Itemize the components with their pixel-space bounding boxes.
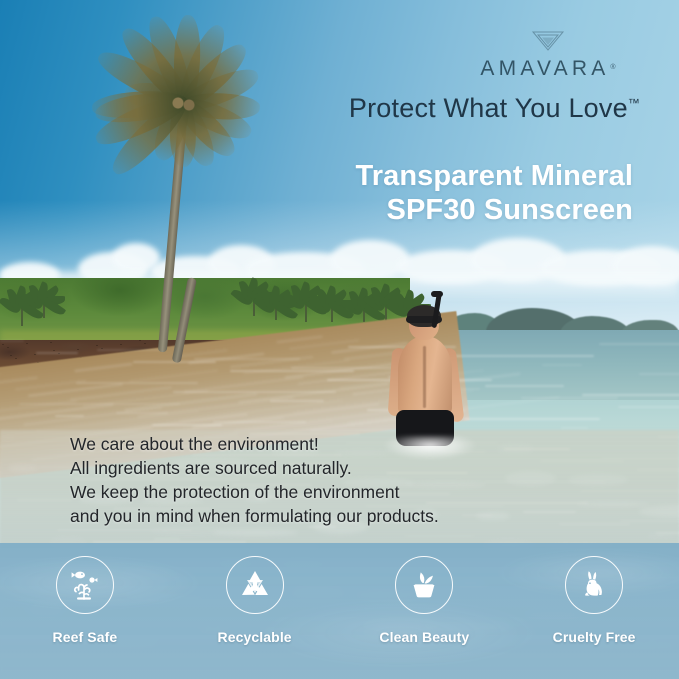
wave-line — [97, 349, 162, 351]
badge-circle — [226, 556, 284, 614]
wave-line — [19, 403, 180, 405]
brand-name: AMAVARA — [480, 57, 609, 81]
rock-speckle — [2, 344, 4, 345]
badge-recyclable: Recyclable — [170, 556, 340, 645]
rock-speckle — [10, 355, 12, 356]
rock-speckle — [26, 343, 28, 344]
wave-line — [561, 427, 588, 429]
spine-shadow — [423, 346, 426, 408]
body-copy: We care about the environment! All ingre… — [70, 432, 590, 528]
wave-line — [639, 373, 679, 375]
rock-speckle — [34, 354, 36, 355]
rock-speckle — [7, 347, 9, 348]
sand-streak — [0, 377, 37, 387]
wave-line — [521, 397, 618, 399]
wave-line — [618, 406, 679, 408]
wave-line — [213, 421, 306, 423]
sand-streak — [0, 373, 1, 380]
tagline: Protect What You Love™ — [0, 93, 640, 124]
wave-line — [464, 418, 600, 420]
tagline-text: Protect What You Love — [349, 93, 628, 123]
water-shimmer-blob — [8, 464, 38, 472]
body-line-4: and you in mind when formulating our pro… — [70, 504, 590, 528]
mortar-leaves-icon — [405, 566, 443, 604]
brand-logo: AMAVARA® — [448, 30, 648, 81]
rock-speckle — [77, 349, 79, 350]
water-shimmer-blob — [647, 533, 674, 538]
wave-line — [173, 391, 336, 393]
badge-cruelty-free: Cruelty Free — [509, 556, 679, 645]
headline-line-2: SPF30 Sunscreen — [0, 193, 633, 227]
wave-line — [194, 358, 300, 360]
badge-circle — [395, 556, 453, 614]
sand-streak — [75, 363, 133, 372]
wave-line — [230, 370, 354, 372]
badge-circle — [565, 556, 623, 614]
body-line-1: We care about the environment! — [70, 432, 590, 456]
wave-line — [582, 394, 679, 396]
wave-line — [116, 412, 168, 414]
snorkeler — [372, 300, 482, 450]
badge-clean-beauty: Clean Beauty — [340, 556, 510, 645]
advertisement-banner: AMAVARA® Protect What You Love™ Transpar… — [0, 0, 679, 679]
wave-line — [36, 352, 78, 354]
rock-speckle — [15, 358, 17, 359]
feature-band: Reef Safe Recyclable — [0, 543, 679, 679]
tagline-trademark: ™ — [628, 96, 640, 110]
coral-fish-icon — [66, 566, 104, 604]
body-line-2: All ingredients are sourced naturally. — [70, 456, 590, 480]
wave-line — [485, 385, 564, 387]
background-palm — [30, 296, 56, 318]
wave-line — [76, 382, 198, 384]
brand-trademark: ® — [610, 64, 615, 71]
wave-line — [599, 343, 679, 345]
rabbit-icon — [575, 566, 613, 604]
sand-streak — [176, 349, 228, 357]
badge-circle — [56, 556, 114, 614]
water-shimmer-blob — [0, 436, 16, 440]
wave-line — [55, 415, 84, 417]
wave-line — [542, 364, 582, 366]
badge-row: Reef Safe Recyclable — [0, 543, 679, 679]
nested-triangle-logo-icon — [531, 30, 565, 52]
badge-label: Recyclable — [218, 629, 292, 645]
wave-line — [270, 400, 324, 402]
headline-line-1: Transparent Mineral — [0, 159, 633, 193]
badge-label: Reef Safe — [53, 629, 118, 645]
recycle-icon — [237, 567, 273, 603]
wave-line — [0, 340, 24, 342]
rock-speckle — [50, 342, 52, 343]
body-line-3: We keep the protection of the environmen… — [70, 480, 590, 504]
product-headline: Transparent Mineral SPF30 Sunscreen — [0, 159, 633, 227]
sand-streak — [129, 370, 218, 383]
badge-reef-safe: Reef Safe — [0, 556, 170, 645]
wave-line — [152, 424, 222, 426]
badge-label: Cruelty Free — [553, 629, 636, 645]
badge-label: Clean Beauty — [379, 629, 469, 645]
snorkel-tip — [431, 291, 443, 297]
